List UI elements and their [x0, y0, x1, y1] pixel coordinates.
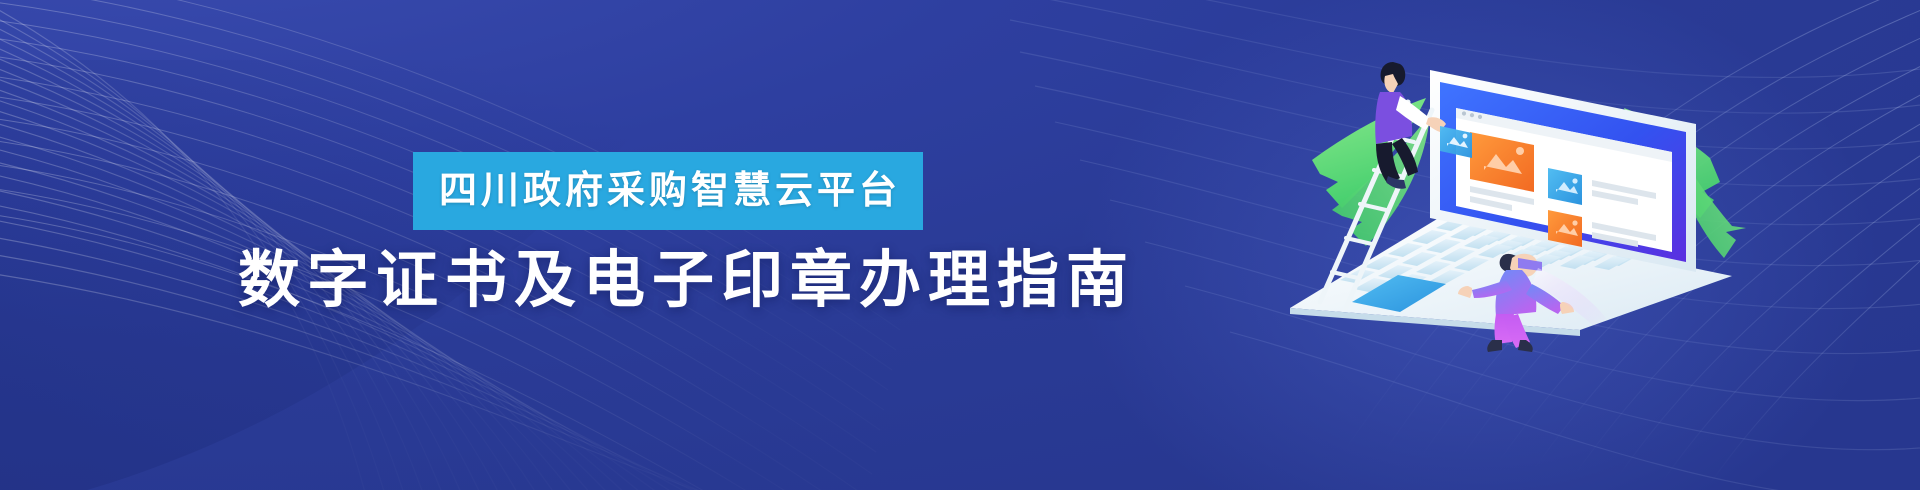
banner-headline: 数字证书及电子印章办理指南 — [238, 246, 1173, 315]
banner-copy: 四川政府采购智慧云平台 数字证书及电子印章办理指南 — [413, 152, 1173, 315]
platform-badge: 四川政府采购智慧云平台 — [413, 152, 923, 230]
isometric-laptop-illustration — [1280, 40, 1750, 330]
promo-banner: 四川政府采购智慧云平台 数字证书及电子印章办理指南 — [0, 0, 1920, 490]
